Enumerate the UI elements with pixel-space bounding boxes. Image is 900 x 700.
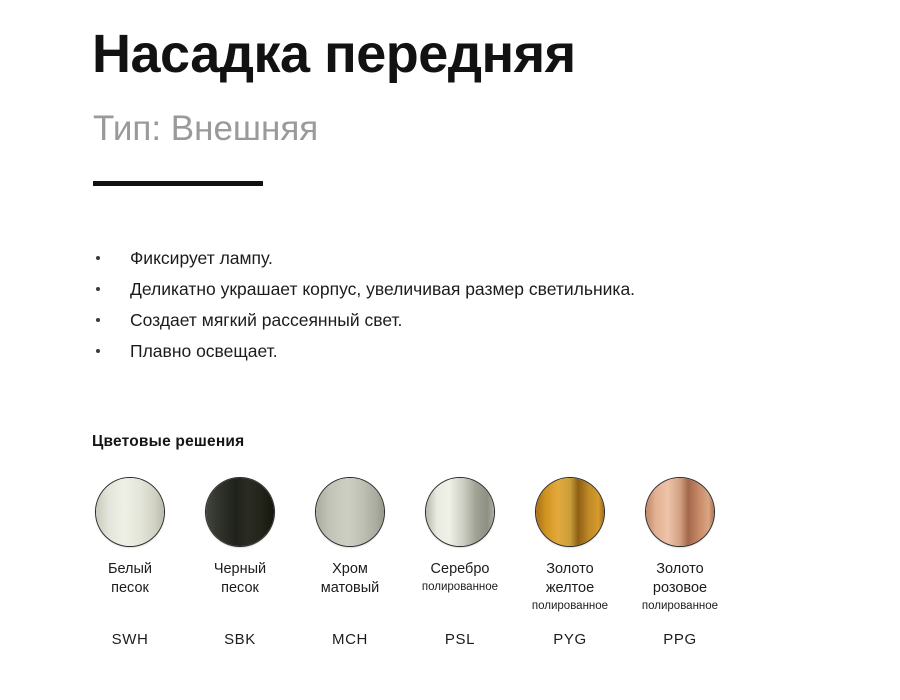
color-option-mch[interactable]: Хром матовый MCH	[300, 470, 400, 598]
color-option-psl[interactable]: Серебро полированное PSL	[410, 470, 510, 595]
color-swatch-label: Золото желтое полированное	[520, 560, 620, 614]
page-subtitle: Тип: Внешняя	[93, 108, 318, 150]
bullet-dot-icon	[96, 318, 100, 322]
color-name-line2: песок	[111, 580, 149, 596]
color-swatch-label: Белый песок	[80, 560, 180, 598]
color-name-line1: Серебро	[431, 561, 490, 577]
color-name-line1: Белый	[108, 561, 152, 577]
list-item: Фиксирует лампу.	[93, 243, 853, 274]
color-code: SBK	[190, 631, 290, 648]
color-swatch-label: Золото розовое полированное	[630, 560, 730, 614]
color-swatch-disc[interactable]	[316, 478, 384, 546]
color-swatch-disc[interactable]	[96, 478, 164, 546]
color-name-line3: полированное	[630, 598, 730, 614]
color-swatch-label: Серебро полированное	[410, 560, 510, 595]
title-divider	[93, 181, 263, 186]
color-name-line2: розовое	[653, 580, 707, 596]
color-code: PPG	[630, 631, 730, 648]
feature-list: Фиксирует лампу. Деликатно украшает корп…	[93, 243, 853, 367]
color-option-sbk[interactable]: Черный песок SBK	[190, 470, 290, 598]
color-name-line1: Золото	[656, 561, 703, 577]
color-swatch-disc[interactable]	[536, 478, 604, 546]
color-code: PYG	[520, 631, 620, 648]
color-code: PSL	[410, 631, 510, 648]
color-name-line2: полированное	[410, 579, 510, 595]
color-name-line1: Черный	[214, 561, 266, 577]
color-swatch-disc[interactable]	[426, 478, 494, 546]
page-title: Насадка передняя	[92, 24, 576, 84]
slide-canvas: Насадка передняя Тип: Внешняя Фиксирует …	[0, 0, 900, 700]
feature-text: Фиксирует лампу.	[130, 243, 273, 274]
bullet-dot-icon	[96, 349, 100, 353]
bullet-dot-icon	[96, 256, 100, 260]
color-swatch-grid: Белый песок SWH Черный песок SBK Хром ма…	[80, 470, 760, 660]
color-name-line2: песок	[221, 580, 259, 596]
color-option-pyg[interactable]: Золото желтое полированное PYG	[520, 470, 620, 614]
list-item: Деликатно украшает корпус, увеличивая ра…	[93, 274, 853, 305]
color-swatch-label: Черный песок	[190, 560, 290, 598]
color-name-line1: Хром	[332, 561, 368, 577]
color-option-swh[interactable]: Белый песок SWH	[80, 470, 180, 598]
colors-section-heading: Цветовые решения	[92, 433, 244, 451]
list-item: Создает мягкий рассеянный свет.	[93, 305, 853, 336]
list-item: Плавно освещает.	[93, 336, 853, 367]
feature-text: Создает мягкий рассеянный свет.	[130, 305, 402, 336]
bullet-dot-icon	[96, 287, 100, 291]
feature-text: Плавно освещает.	[130, 336, 278, 367]
color-name-line2: желтое	[546, 580, 594, 596]
color-swatch-label: Хром матовый	[300, 560, 400, 598]
color-name-line3: полированное	[520, 598, 620, 614]
color-code: MCH	[300, 631, 400, 648]
color-name-line2: матовый	[321, 580, 379, 596]
color-swatch-disc[interactable]	[646, 478, 714, 546]
feature-text: Деликатно украшает корпус, увеличивая ра…	[130, 274, 635, 305]
color-code: SWH	[80, 631, 180, 648]
color-option-ppg[interactable]: Золото розовое полированное PPG	[630, 470, 730, 614]
color-swatch-disc[interactable]	[206, 478, 274, 546]
color-name-line1: Золото	[546, 561, 593, 577]
